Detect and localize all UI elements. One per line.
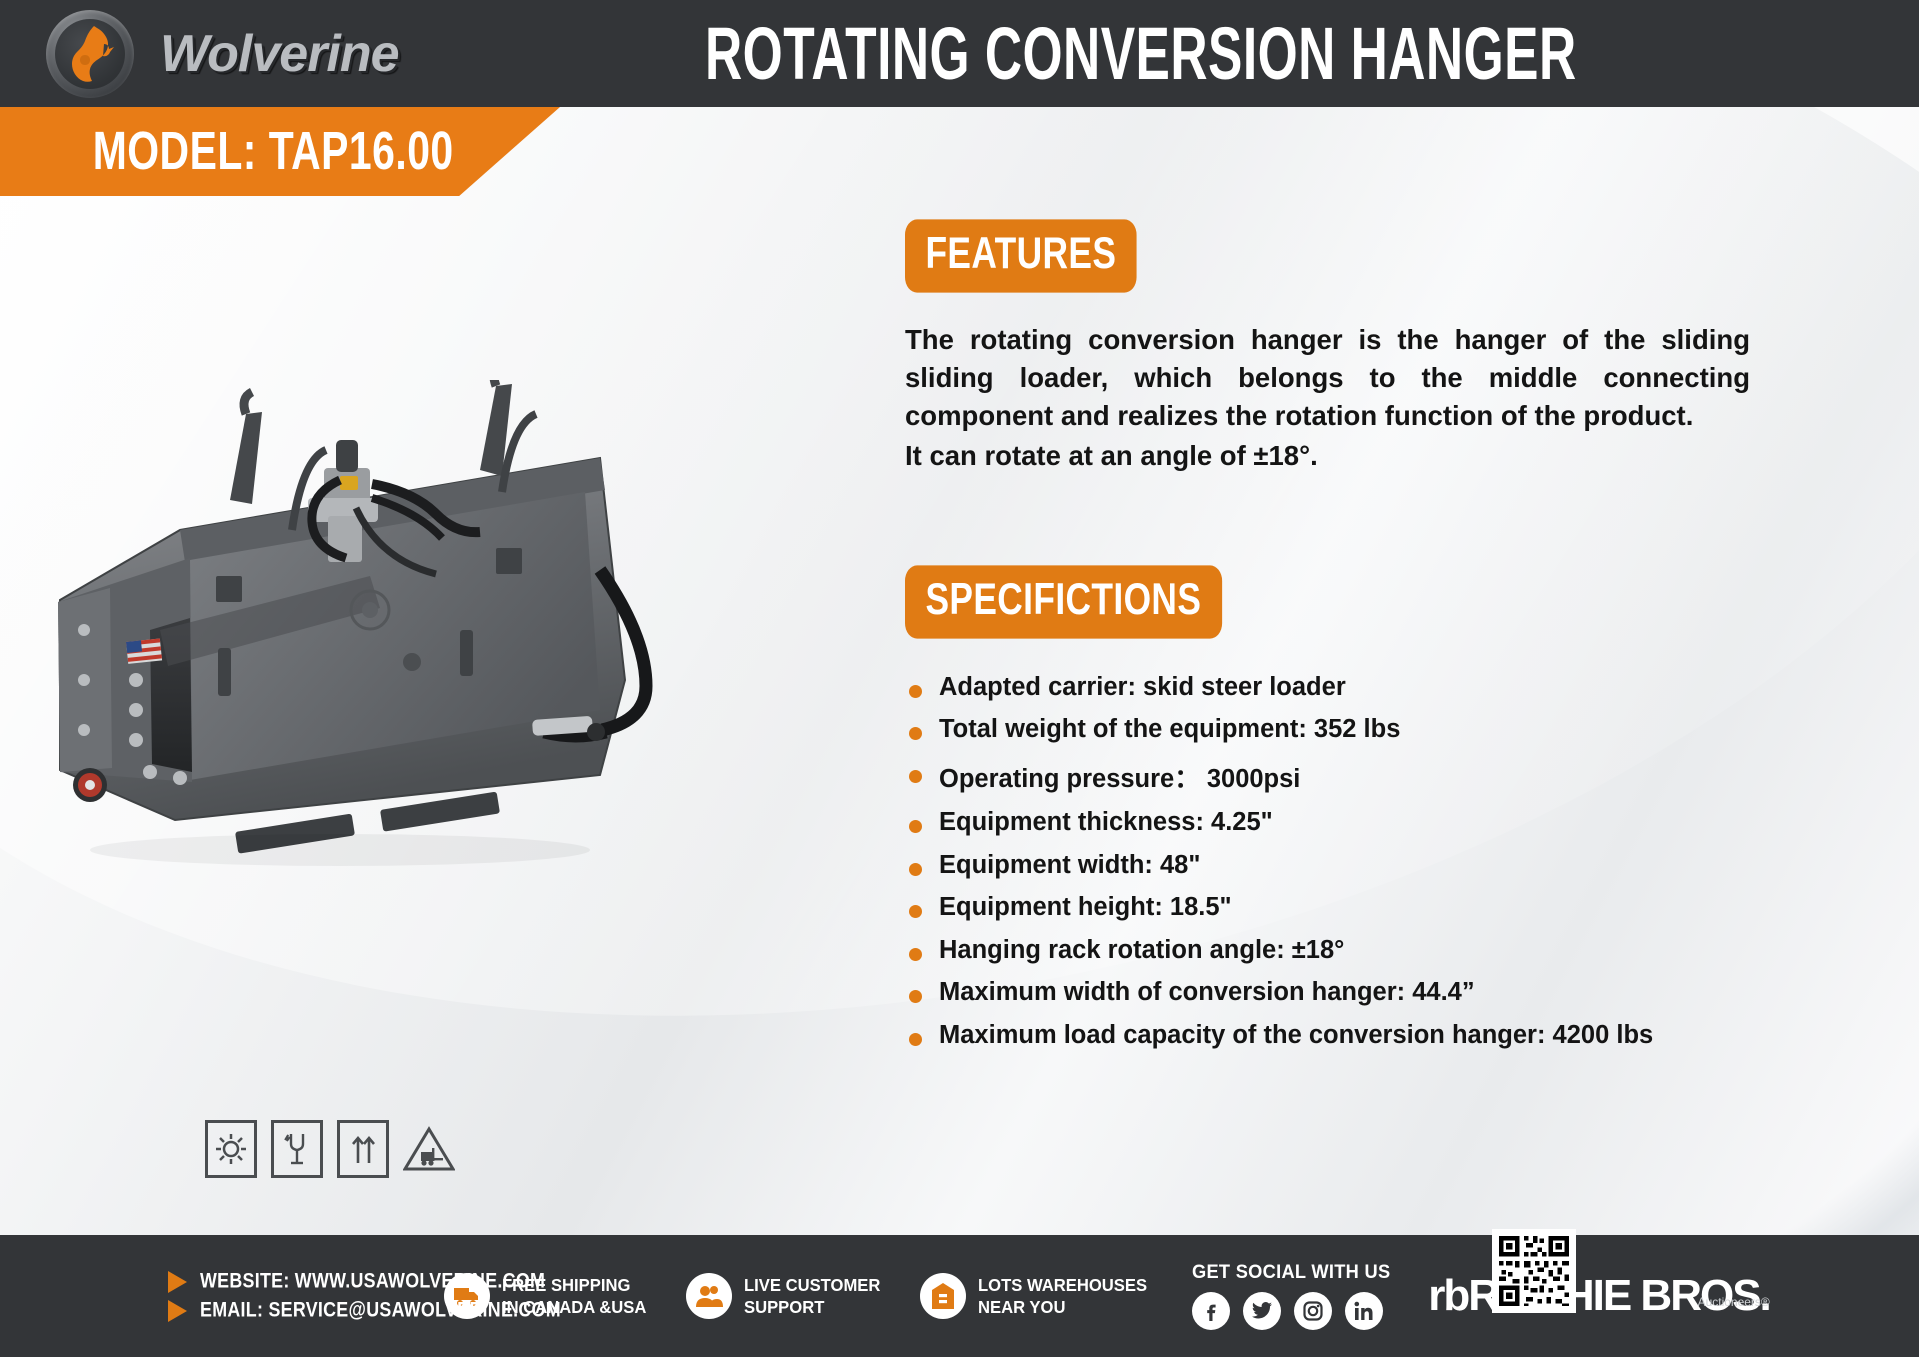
badge-live-support: LIVE CUSTOMER SUPPORT — [686, 1273, 888, 1319]
usa-flag-icon — [126, 638, 162, 663]
badge-line-1: LIVE CUSTOMER — [744, 1275, 880, 1295]
twitter-icon[interactable] — [1243, 1292, 1281, 1330]
partner-logo: rb RITCHIE BROS. Auctioneers® — [1428, 1271, 1770, 1321]
specifications-section: SPECIFICTIONS Adapted carrier: skid stee… — [905, 571, 1805, 1050]
wolf-howl-icon — [46, 10, 134, 98]
social-icon-row — [1192, 1292, 1399, 1330]
social-title: GET SOCIAL WITH US — [1192, 1262, 1390, 1284]
qr-code-icon[interactable] — [1492, 1229, 1576, 1313]
list-item: Equipment height: 18.5" — [905, 893, 1805, 922]
fragile-glass-icon — [271, 1120, 323, 1178]
list-item: Hanging rack rotation angle: ±18° — [905, 936, 1805, 965]
page-footer: WEBSITE: WWW.USAWOLVERINE.COM EMAIL: SER… — [0, 1235, 1919, 1357]
facebook-icon[interactable] — [1192, 1292, 1230, 1330]
specifications-heading: SPECIFICTIONS — [905, 565, 1222, 638]
product-illustration — [40, 380, 800, 940]
badge-warehouses: LOTS WAREHOUSES NEAR YOU — [920, 1273, 1156, 1319]
partner-tagline: Auctioneers® — [1698, 1295, 1770, 1309]
handling-symbols — [205, 1120, 455, 1178]
badge-line-2: IN CANADA &USA — [502, 1297, 646, 1317]
features-paragraph-2: It can rotate at an angle of ±18°. — [905, 437, 1750, 475]
page-header: Wolverine ROTATING CONVERSION HANGER — [0, 0, 1919, 107]
content-column: FEATURES The rotating conversion hanger … — [905, 225, 1805, 1063]
instagram-icon[interactable] — [1294, 1292, 1332, 1330]
badge-line-2: NEAR YOU — [978, 1297, 1065, 1317]
forklift-warning-icon — [403, 1120, 455, 1178]
features-paragraph: The rotating conversion hanger is the ha… — [905, 321, 1750, 435]
product-image — [40, 380, 800, 940]
badge-line-2: SUPPORT — [744, 1297, 824, 1317]
list-item: Adapted carrier: skid steer loader — [905, 673, 1805, 702]
warehouse-icon — [920, 1273, 966, 1319]
page-title: ROTATING CONVERSION HANGER — [459, 11, 1858, 97]
brand-name: Wolverine — [160, 24, 399, 84]
this-side-up-icon — [337, 1120, 389, 1178]
customer-support-icon — [686, 1273, 732, 1319]
partner-name-short: rb — [1428, 1271, 1468, 1321]
linkedin-icon[interactable] — [1345, 1292, 1383, 1330]
features-heading: FEATURES — [905, 219, 1137, 292]
list-item: Equipment thickness: 4.25" — [905, 808, 1805, 837]
service-badges: FREE SHIPPING IN CANADA &USA LIVE CUSTOM… — [444, 1273, 1156, 1319]
website-line[interactable]: WEBSITE: WWW.USAWOLVERINE.COM — [168, 1271, 430, 1293]
list-item: Maximum load capacity of the conversion … — [905, 1021, 1805, 1050]
arrow-right-icon — [168, 1271, 187, 1293]
list-item: Equipment width: 48" — [905, 851, 1805, 880]
email-line[interactable]: EMAIL: SERVICE@USAWOLVERINE.COM — [168, 1300, 430, 1322]
list-item: Total weight of the equipment: 352 lbs — [905, 715, 1805, 744]
brand-logo: Wolverine — [0, 10, 399, 98]
arrow-right-icon — [168, 1300, 187, 1322]
specifications-list: Adapted carrier: skid steer loader Total… — [905, 673, 1805, 1050]
social-section: GET SOCIAL WITH US — [1192, 1262, 1399, 1330]
list-item: Operating pressure： 3000psi — [905, 758, 1805, 795]
list-item: Maximum width of conversion hanger: 44.4… — [905, 978, 1805, 1007]
model-label: MODEL: TAP16.00 — [16, 121, 453, 182]
wolf-howl-glyph — [64, 24, 116, 84]
contact-info: WEBSITE: WWW.USAWOLVERINE.COM EMAIL: SER… — [0, 1264, 430, 1329]
keep-dry-sun-icon — [205, 1120, 257, 1178]
website-text: WEBSITE: WWW.USAWOLVERINE.COM — [200, 1269, 545, 1294]
badge-line-1: FREE SHIPPING — [502, 1275, 630, 1295]
badge-line-1: LOTS WAREHOUSES — [978, 1275, 1147, 1295]
